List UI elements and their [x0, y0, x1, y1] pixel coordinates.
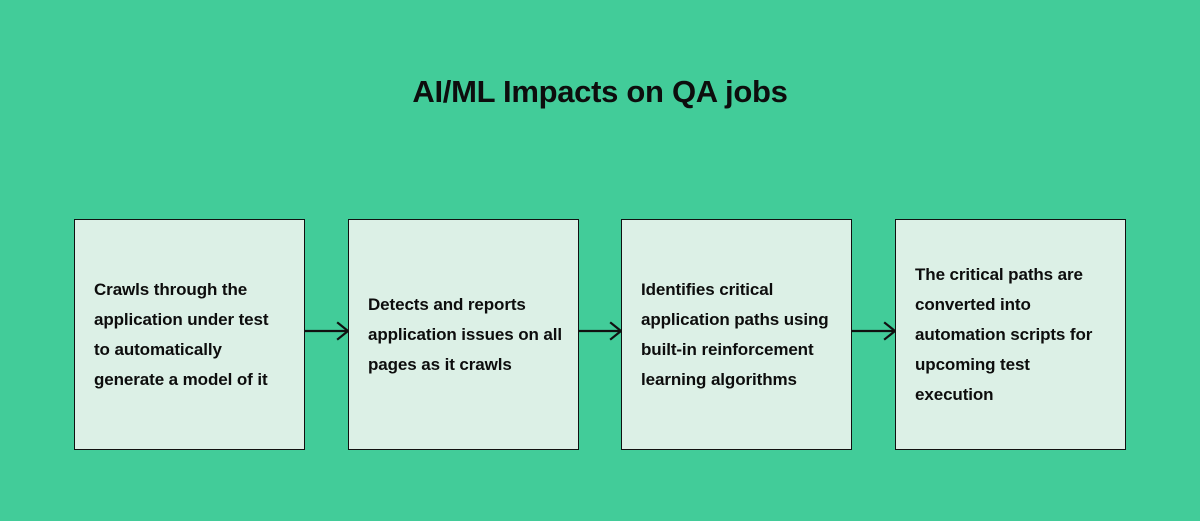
flow-step-4: The critical paths are converted into au… [895, 219, 1126, 450]
process-flow: Crawls through the application under tes… [74, 219, 1126, 451]
flow-step-2-label: Detects and reports application issues o… [349, 290, 578, 380]
arrow-right-icon-3 [852, 320, 896, 342]
page-title: AI/ML Impacts on QA jobs [0, 72, 1200, 112]
arrow-right-icon-1 [305, 320, 349, 342]
flow-step-4-label: The critical paths are converted into au… [896, 260, 1125, 410]
flow-step-3-label: Identifies critical application paths us… [622, 275, 851, 395]
flow-step-2: Detects and reports application issues o… [348, 219, 579, 450]
flow-step-1: Crawls through the application under tes… [74, 219, 305, 450]
flow-step-3: Identifies critical application paths us… [621, 219, 852, 450]
flow-step-1-label: Crawls through the application under tes… [75, 275, 304, 395]
diagram-canvas: AI/ML Impacts on QA jobs Crawls through … [0, 0, 1200, 521]
arrow-right-icon-2 [578, 320, 622, 342]
